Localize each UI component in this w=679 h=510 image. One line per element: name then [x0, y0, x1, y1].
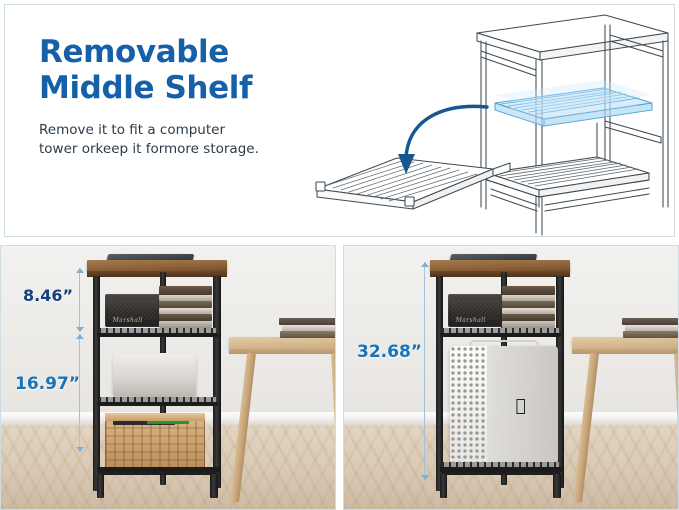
wicker-basket [105, 413, 205, 469]
marshall-speaker: Marshall [105, 294, 160, 327]
headline-block: Removable Middle Shelf Remove it to fit … [39, 35, 309, 160]
room-scene-right: Marshall  [344, 246, 678, 509]
insert-arrow [406, 106, 487, 157]
dimension-label-32-68: 32.68” [357, 342, 422, 362]
headline-line-1: Removable [39, 35, 309, 71]
mac-pro-tower:  [450, 346, 558, 464]
headline-line-2: Middle Shelf [39, 71, 309, 107]
subcopy-text: Remove it to fit a computer tower orkeep… [39, 121, 267, 160]
printer [113, 353, 196, 398]
shelf-diagram-svg [305, 11, 676, 237]
photo-panel-with-shelf: Marshall [0, 245, 336, 510]
headline-panel: Removable Middle Shelf Remove it to fit … [4, 4, 675, 237]
book-stack-upper [502, 286, 555, 328]
dimension-label-8-46: 8.46” [23, 286, 73, 305]
book-stack-upper [159, 286, 212, 328]
photo-panel-shelf-removed: Marshall  [343, 245, 679, 510]
photo-comparison-row: Marshall [0, 245, 679, 510]
room-scene-left: Marshall [1, 246, 335, 509]
dimension-label-16-97: 16.97” [15, 374, 80, 394]
marshall-speaker: Marshall [448, 294, 503, 327]
shelf-line-diagram [305, 11, 676, 237]
